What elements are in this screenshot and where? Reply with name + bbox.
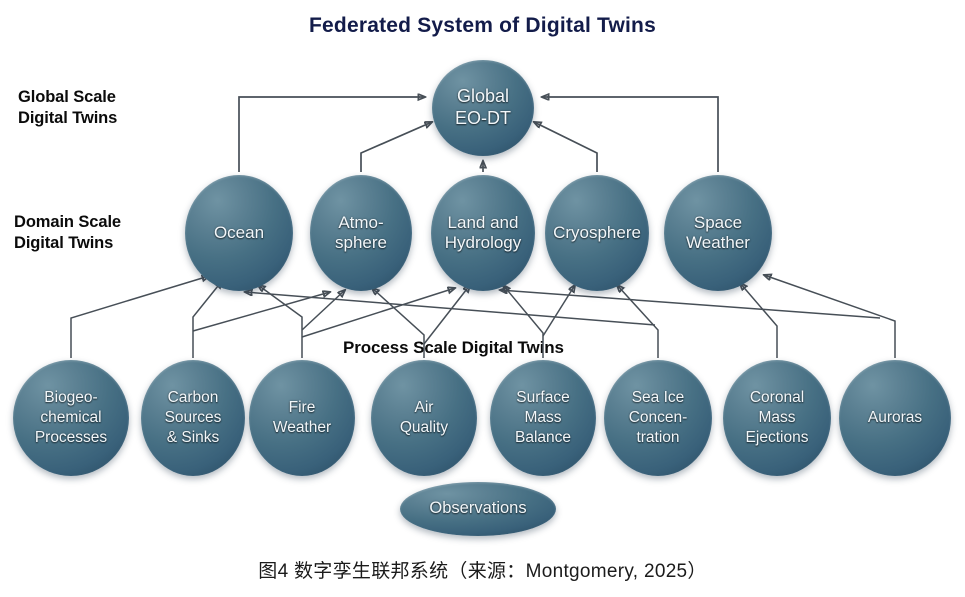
node-biogeochemical-processes[interactable]: Biogeo- chemical Processes	[13, 360, 129, 476]
edge-fire-to-ocean	[258, 285, 302, 358]
edge-fire-to-land	[302, 288, 455, 337]
edge-fire-to-atmosphere	[302, 290, 345, 330]
node-global-eo-dt[interactable]: Global EO-DT	[432, 60, 534, 156]
edge-seaice-to-ocean	[245, 292, 655, 325]
edge-ocean-to-global	[239, 97, 425, 172]
node-carbon-sources-and-sinks[interactable]: Carbon Sources & Sinks	[141, 360, 245, 476]
edge-carbon-to-ocean	[193, 281, 222, 358]
node-sea-ice-concentration[interactable]: Sea Ice Concen- tration	[604, 360, 712, 476]
edge-auroras-to-spaceweather	[764, 275, 895, 358]
node-land-and-hydrology[interactable]: Land and Hydrology	[431, 175, 535, 291]
edge-cme-to-spaceweather	[740, 283, 777, 358]
node-fire-weather[interactable]: Fire Weather	[249, 360, 355, 476]
figure-federated-digital-twins: Federated System of Digital Twins Global…	[0, 0, 965, 597]
node-auroras[interactable]: Auroras	[839, 360, 951, 476]
node-cryosphere[interactable]: Cryosphere	[545, 175, 649, 291]
tier-label-process-scale: Process Scale Digital Twins	[343, 338, 564, 358]
edge-atmosphere-to-global	[361, 122, 432, 172]
edge-surfacemass-to-cryosphere	[543, 285, 575, 336]
node-air-quality[interactable]: Air Quality	[371, 360, 477, 476]
edge-spaceweather-to-global	[542, 97, 718, 172]
edge-carbon-to-atmosphere	[193, 292, 330, 331]
node-surface-mass-balance[interactable]: Surface Mass Balance	[490, 360, 596, 476]
edge-seaice-to-cryosphere	[617, 285, 658, 358]
edge-biogeochemical-to-ocean	[71, 276, 209, 358]
edge-auroras-to-land	[500, 290, 880, 318]
node-observations[interactable]: Observations	[400, 482, 556, 536]
tier-label-domain-scale: Domain Scale Digital Twins	[14, 212, 121, 254]
edge-airquality-to-land	[424, 285, 470, 344]
node-coronal-mass-ejections[interactable]: Coronal Mass Ejections	[723, 360, 831, 476]
edge-cryosphere-to-global	[534, 122, 597, 172]
node-ocean[interactable]: Ocean	[185, 175, 293, 291]
tier-label-global-scale: Global Scale Digital Twins	[18, 87, 117, 129]
diagram-title: Federated System of Digital Twins	[0, 14, 965, 38]
node-atmosphere[interactable]: Atmo- sphere	[310, 175, 412, 291]
node-space-weather[interactable]: Space Weather	[664, 175, 772, 291]
figure-caption: 图4 数字孪生联邦系统（来源：Montgomery, 2025）	[0, 556, 965, 583]
